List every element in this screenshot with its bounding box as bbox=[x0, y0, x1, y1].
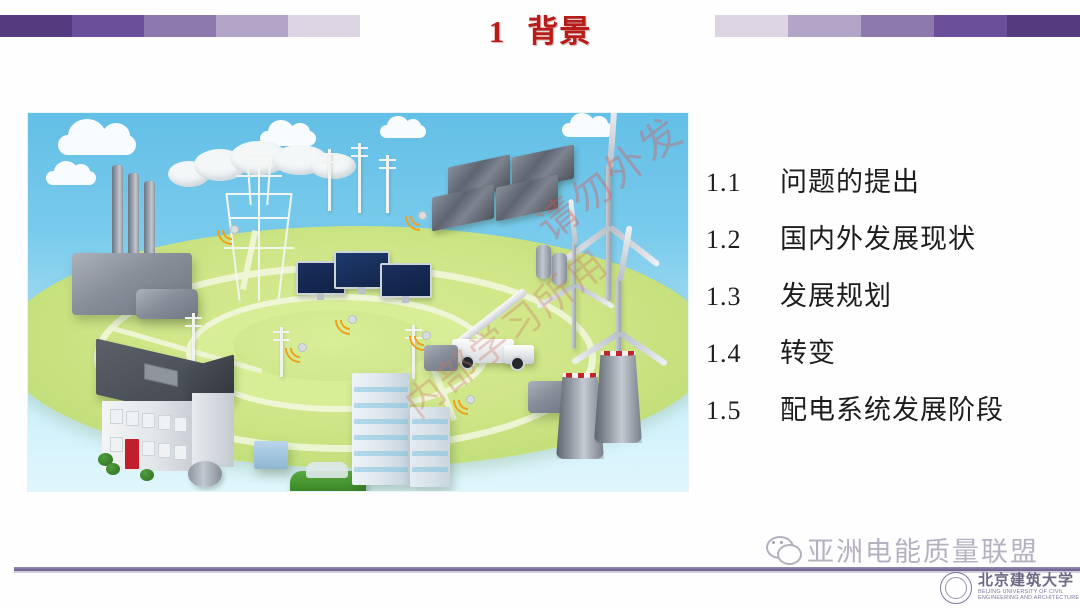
list-item-label: 配电系统发展阶段 bbox=[780, 388, 1004, 427]
residential-house bbox=[96, 353, 246, 483]
cloud-icon bbox=[58, 135, 136, 155]
house-wall-side bbox=[192, 393, 234, 467]
cooling-tower bbox=[594, 351, 642, 443]
smokestack bbox=[144, 181, 155, 263]
wechat-account-name: 亚洲电能质量联盟 bbox=[807, 530, 1039, 569]
utility-pole bbox=[280, 327, 283, 377]
utility-truck bbox=[448, 311, 538, 365]
office-building bbox=[410, 407, 450, 487]
university-name-en-line2: ENGINEERING AND ARCHITECTURE bbox=[978, 596, 1079, 602]
wechat-icon bbox=[766, 536, 800, 563]
house-door bbox=[125, 439, 139, 469]
university-logo: 北京建筑大学 BEIJING UNIVERSITY OF CIVIL ENGIN… bbox=[940, 572, 1079, 604]
wireless-signal-icon bbox=[216, 217, 250, 239]
smokestack bbox=[128, 173, 139, 259]
list-item-number: 1.1 bbox=[706, 168, 780, 198]
charging-station bbox=[254, 441, 288, 469]
list-item[interactable]: 1.2 国内外发展现状 bbox=[706, 217, 1066, 256]
utility-pole bbox=[328, 149, 331, 211]
slide-header: 1背景 bbox=[0, 0, 1080, 58]
wind-turbine-mast bbox=[572, 241, 576, 349]
list-item-label: 转变 bbox=[780, 331, 836, 370]
wireless-signal-icon bbox=[334, 307, 368, 329]
wireless-signal-icon bbox=[408, 323, 442, 345]
page-title-number: 1 bbox=[489, 14, 506, 49]
list-item-number: 1.4 bbox=[706, 339, 780, 369]
list-item[interactable]: 1.1 问题的提出 bbox=[706, 160, 1066, 199]
storage-tank bbox=[552, 253, 567, 285]
page-title-text: 背景 bbox=[527, 14, 591, 49]
cloud-icon bbox=[562, 123, 614, 137]
control-monitor bbox=[380, 263, 432, 298]
list-item-label: 问题的提出 bbox=[780, 160, 920, 199]
utility-pole bbox=[386, 155, 389, 213]
slide-canvas: 1背景 bbox=[0, 0, 1080, 608]
list-item[interactable]: 1.4 转变 bbox=[706, 331, 1066, 370]
cloud-icon bbox=[46, 171, 96, 185]
university-name-block: 北京建筑大学 BEIJING UNIVERSITY OF CIVIL ENGIN… bbox=[978, 574, 1079, 601]
smart-grid-image: 请勿外发 内部学习所用 bbox=[28, 113, 688, 491]
office-building bbox=[352, 373, 410, 485]
cloud-icon bbox=[380, 125, 426, 138]
wireless-signal-icon bbox=[284, 335, 318, 357]
list-item-label: 发展规划 bbox=[780, 274, 892, 313]
university-seal-icon bbox=[940, 572, 972, 604]
power-plant-annex bbox=[136, 289, 198, 319]
outline-list: 1.1 问题的提出 1.2 国内外发展现状 1.3 发展规划 1.4 转变 1.… bbox=[706, 160, 1066, 445]
wireless-signal-icon bbox=[452, 387, 486, 409]
wireless-signal-icon bbox=[404, 203, 438, 225]
list-item[interactable]: 1.5 配电系统发展阶段 bbox=[706, 388, 1066, 427]
storage-tank bbox=[536, 245, 551, 279]
smart-meter bbox=[188, 461, 222, 487]
list-item-label: 国内外发展现状 bbox=[780, 217, 976, 256]
list-item-number: 1.3 bbox=[706, 282, 780, 312]
list-item[interactable]: 1.3 发展规划 bbox=[706, 274, 1066, 313]
university-name-cn: 北京建筑大学 bbox=[978, 574, 1079, 590]
list-item-number: 1.2 bbox=[706, 225, 780, 255]
page-title: 1背景 bbox=[0, 6, 1080, 51]
utility-pole bbox=[358, 143, 361, 213]
list-item-number: 1.5 bbox=[706, 396, 780, 426]
wechat-watermark: 亚洲电能质量联盟 bbox=[766, 529, 1066, 569]
smokestack bbox=[112, 165, 123, 255]
